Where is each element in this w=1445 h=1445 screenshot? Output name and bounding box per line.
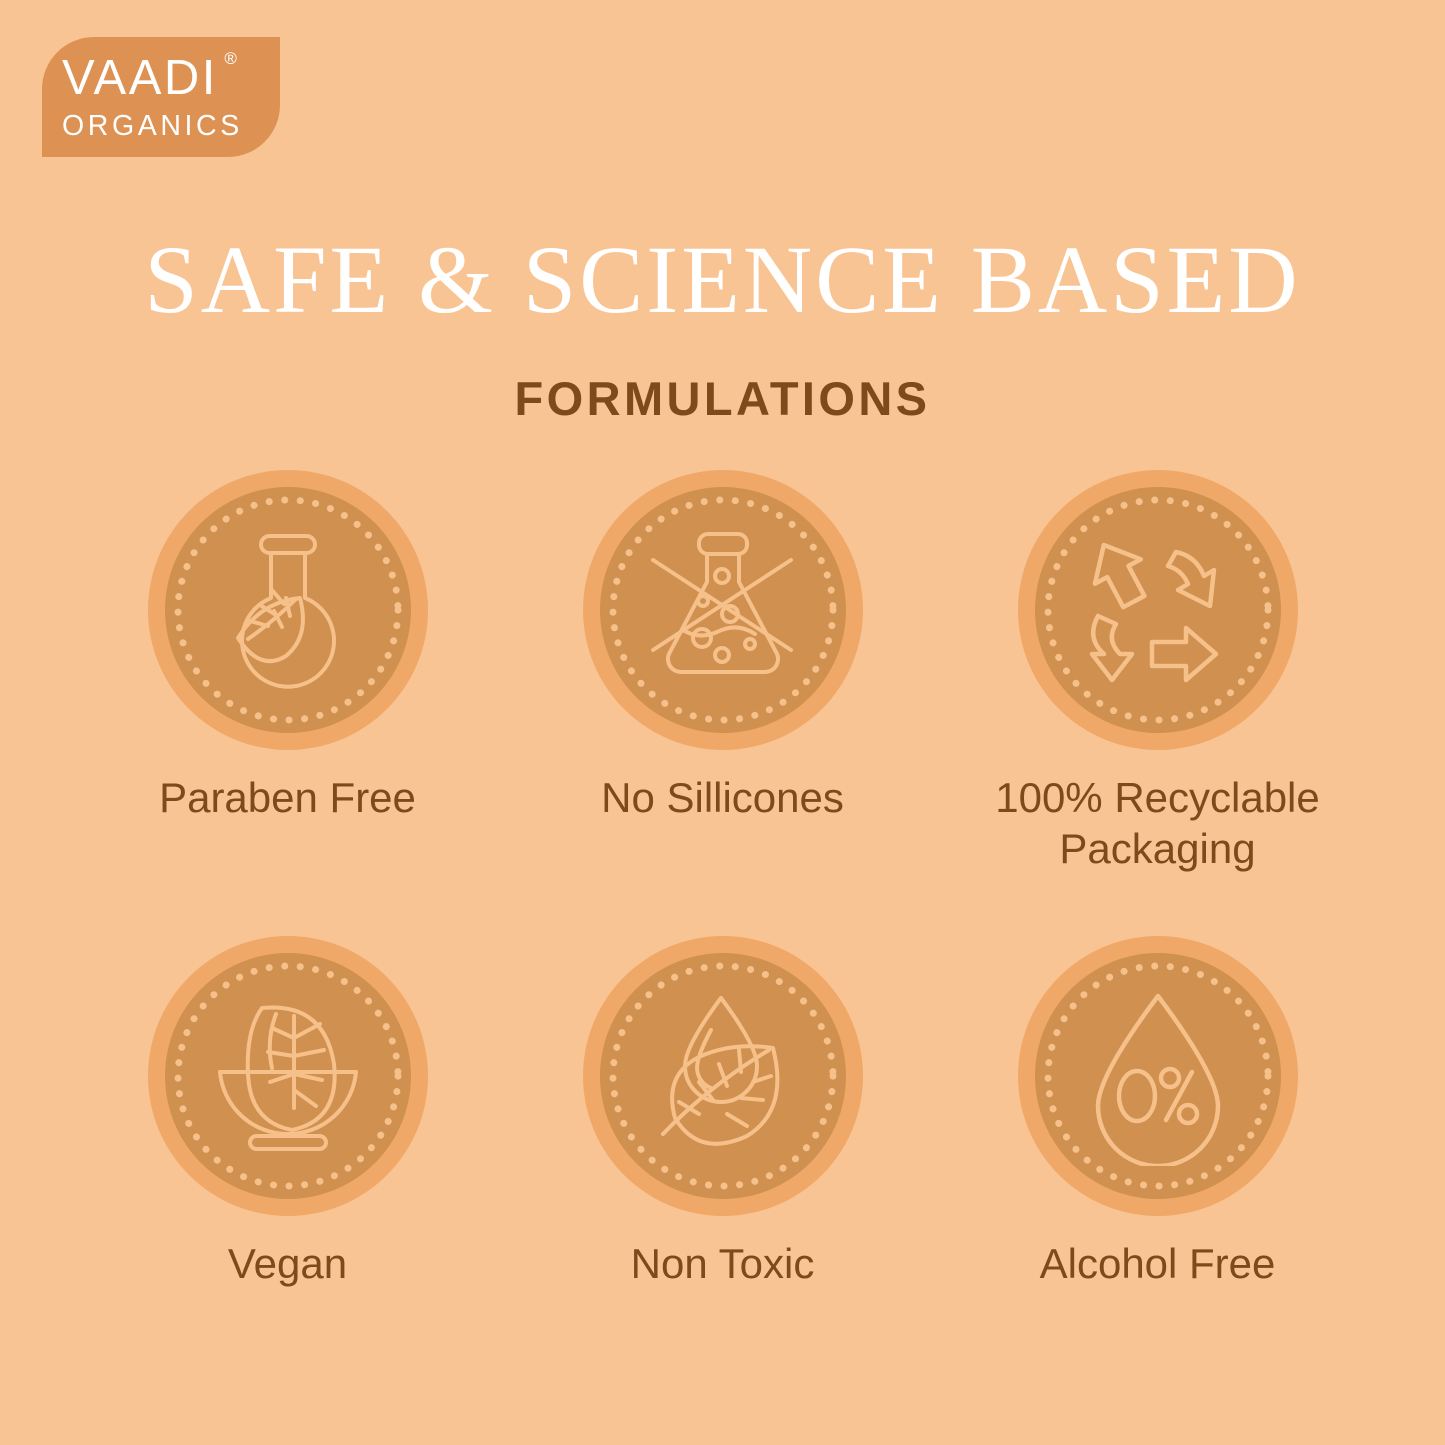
badge-circle bbox=[583, 936, 863, 1216]
page-title: SAFE & SCIENCE BASED bbox=[0, 228, 1445, 332]
bowl-with-leaf-icon bbox=[198, 986, 378, 1166]
badge-circle bbox=[148, 936, 428, 1216]
crossed-out-erlenmeyer-flask-icon bbox=[633, 520, 813, 700]
badge-label: 100% Recyclable Packaging bbox=[973, 772, 1343, 874]
droplet-zero-percent-icon bbox=[1068, 986, 1248, 1166]
badge-circle bbox=[1018, 936, 1298, 1216]
brand-logo: VAADI® ORGANICS bbox=[42, 37, 280, 157]
feature-badge-grid: Paraben Free bbox=[0, 470, 1445, 1290]
page-subtitle: FORMULATIONS bbox=[0, 375, 1445, 422]
badge-recyclable-packaging: 100% Recyclable Packaging bbox=[940, 470, 1375, 874]
badge-row-bottom: Vegan Non Toxic bbox=[0, 936, 1445, 1289]
badge-row-top: Paraben Free bbox=[0, 470, 1445, 874]
badge-no-sillicones: No Sillicones bbox=[505, 470, 940, 874]
badge-vegan: Vegan bbox=[70, 936, 505, 1289]
brand-name-text: VAADI bbox=[62, 51, 218, 105]
recycle-arrows-icon bbox=[1068, 520, 1248, 700]
badge-label: Non Toxic bbox=[631, 1238, 815, 1289]
badge-label: No Sillicones bbox=[601, 772, 844, 823]
badge-circle bbox=[583, 470, 863, 750]
badge-label: Vegan bbox=[228, 1238, 347, 1289]
brand-name: VAADI® bbox=[62, 54, 218, 103]
badge-paraben-free: Paraben Free bbox=[70, 470, 505, 874]
badge-label: Paraben Free bbox=[159, 772, 416, 823]
flask-with-leaf-icon bbox=[198, 520, 378, 700]
badge-label: Alcohol Free bbox=[1040, 1238, 1276, 1289]
droplet-on-leaf-icon bbox=[633, 986, 813, 1166]
badge-circle bbox=[148, 470, 428, 750]
registered-trademark-icon: ® bbox=[224, 50, 237, 67]
badge-non-toxic: Non Toxic bbox=[505, 936, 940, 1289]
brand-tagline: ORGANICS bbox=[62, 112, 243, 141]
badge-circle bbox=[1018, 470, 1298, 750]
badge-alcohol-free: Alcohol Free bbox=[940, 936, 1375, 1289]
